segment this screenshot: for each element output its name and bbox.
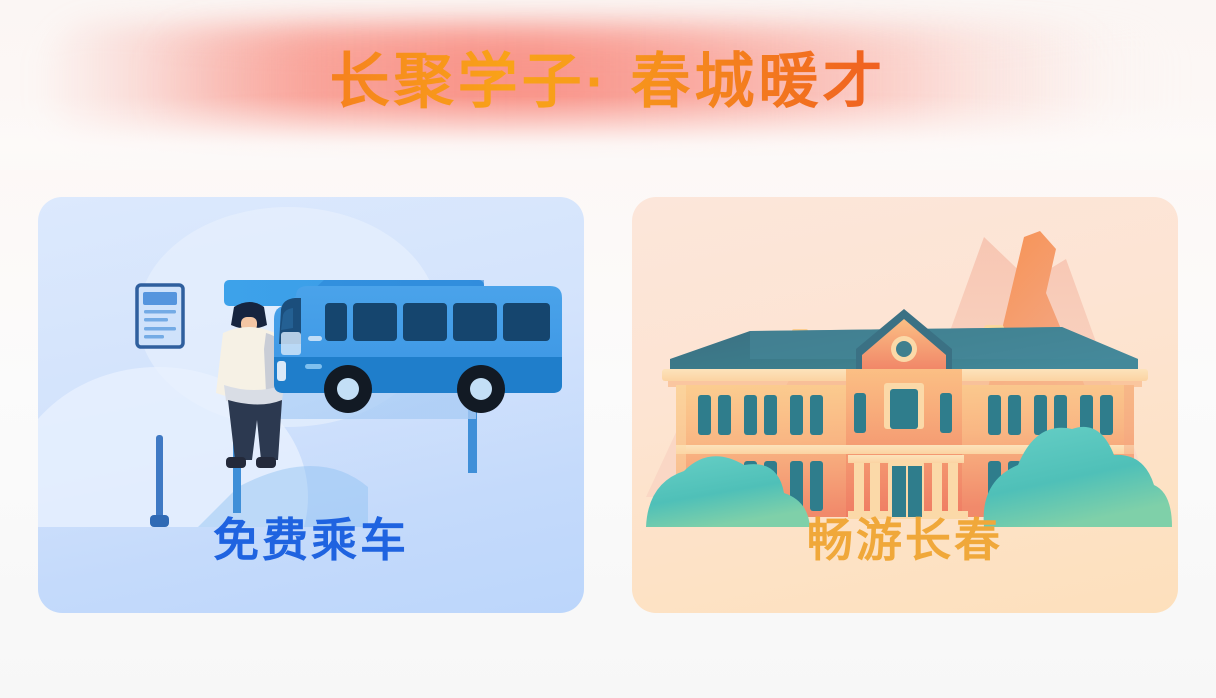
bus-skirt <box>274 357 562 393</box>
bus-windows <box>325 303 550 341</box>
page-title: 长聚学子· 春城暖才 <box>0 46 1216 118</box>
card-title-tour-changchun: 畅游长春 <box>632 513 1178 567</box>
card-title-free-ride: 免费乘车 <box>38 513 584 567</box>
bus-stop-illustration <box>38 197 584 527</box>
card-free-ride[interactable]: 免费乘车 <box>38 197 584 613</box>
card-grid: 免费乘车 <box>38 197 1178 613</box>
landmark-building-illustration <box>632 197 1178 527</box>
promo-page: 长聚学子· 春城暖才 <box>0 0 1216 698</box>
card-tour-changchun[interactable]: 畅游长春 <box>632 197 1178 613</box>
